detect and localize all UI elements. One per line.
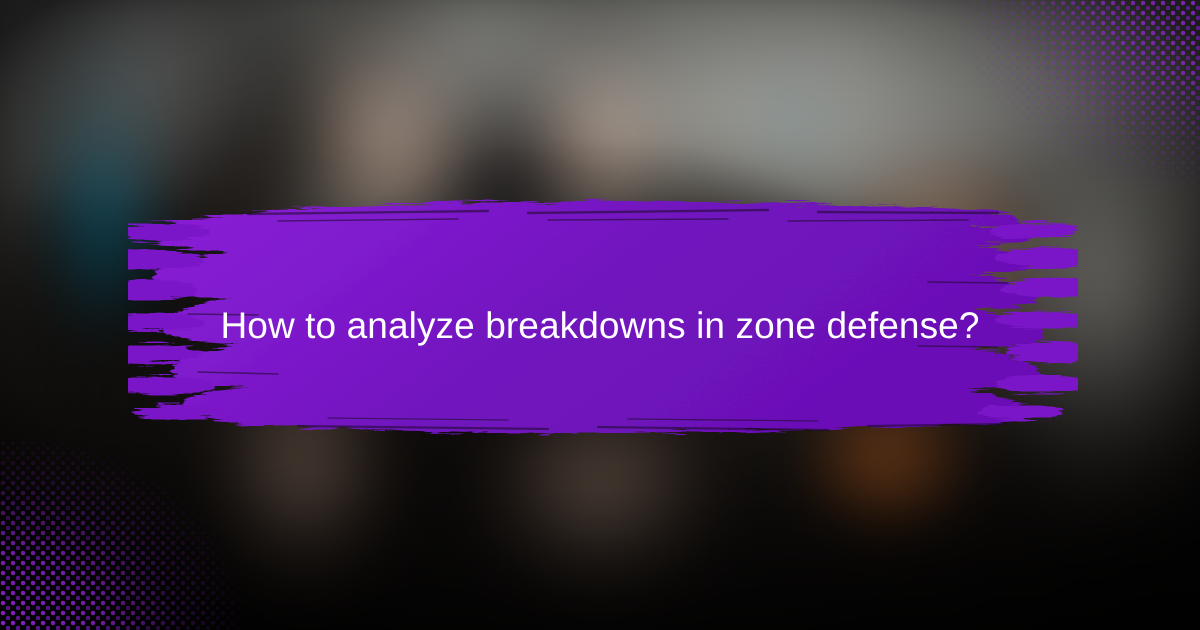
halftone-dots-top-right-icon [960, 0, 1200, 190]
halftone-dots-bottom-left-icon [0, 440, 240, 630]
banner-canvas: How to analyze breakdowns in zone defens… [0, 0, 1200, 630]
page-title: How to analyze breakdowns in zone defens… [0, 303, 1200, 349]
